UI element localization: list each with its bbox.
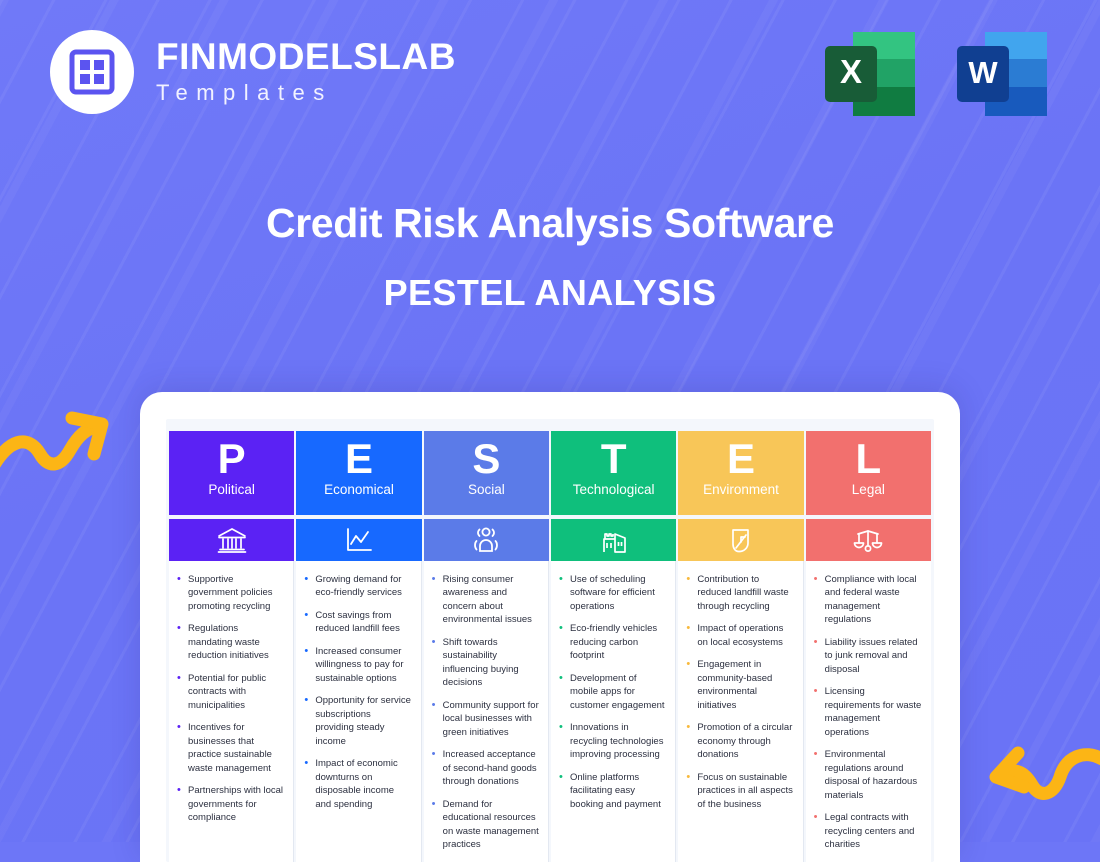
list-item: Impact of economic downturns on disposab… xyxy=(303,757,411,811)
page-header: FINMODELSLAB Templates X W xyxy=(0,0,1100,150)
list-item: Rising consumer awareness and concern ab… xyxy=(431,573,539,627)
list-item: Community support for local businesses w… xyxy=(431,699,539,739)
line-chart-icon xyxy=(296,519,421,561)
bullet-list-social: Rising consumer awareness and concern ab… xyxy=(431,573,539,852)
excel-icon: X xyxy=(820,28,920,120)
bullet-list-legal: Compliance with local and federal waste … xyxy=(813,573,922,852)
content-environment: Contribution to reduced landfill waste t… xyxy=(678,561,803,862)
label-legal: Legal xyxy=(852,483,885,498)
letter-l: L xyxy=(856,437,882,481)
list-item: Partnerships with local governments for … xyxy=(176,784,284,824)
pestel-header-legal[interactable]: L Legal xyxy=(806,431,931,515)
list-item: Online platforms facilitating easy booki… xyxy=(558,771,666,811)
letter-t: T xyxy=(601,437,627,481)
list-item: Legal contracts with recycling centers a… xyxy=(813,811,922,851)
content-social: Rising consumer awareness and concern ab… xyxy=(424,561,549,862)
word-icon: W xyxy=(952,28,1052,120)
list-item: Incentives for businesses that practice … xyxy=(176,721,284,775)
page-subtitle: PESTEL ANALYSIS xyxy=(0,272,1100,314)
list-item: Increased acceptance of second-hand good… xyxy=(431,748,539,788)
list-item: Opportunity for service subscriptions pr… xyxy=(303,694,411,748)
list-item: Focus on sustainable practices in all as… xyxy=(685,771,793,811)
brand-name: FINMODELSLAB xyxy=(156,38,456,77)
page-title: Credit Risk Analysis Software xyxy=(0,200,1100,247)
tablet-screen: P Political E Economical S Social T Tech… xyxy=(166,419,934,862)
list-item: Innovations in recycling technologies im… xyxy=(558,721,666,761)
list-item: Licensing requirements for waste managem… xyxy=(813,685,922,739)
list-item: Contribution to reduced landfill waste t… xyxy=(685,573,793,613)
pestel-header-social[interactable]: S Social xyxy=(424,431,549,515)
label-political: Political xyxy=(208,483,255,498)
list-item: Eco-friendly vehicles reducing carbon fo… xyxy=(558,622,666,662)
list-item: Increased consumer willingness to pay fo… xyxy=(303,645,411,685)
pestel-header-environment[interactable]: E Environment xyxy=(678,431,803,515)
leaf-icon xyxy=(678,519,803,561)
title-block: Credit Risk Analysis Software PESTEL ANA… xyxy=(0,200,1100,314)
list-item: Liability issues related to junk removal… xyxy=(813,636,922,676)
list-item: Use of scheduling software for efficient… xyxy=(558,573,666,613)
content-legal: Compliance with local and federal waste … xyxy=(806,561,931,862)
label-technological: Technological xyxy=(573,483,655,498)
content-technological: Use of scheduling software for efficient… xyxy=(551,561,676,862)
list-item: Regulations mandating waste reduction in… xyxy=(176,622,284,662)
list-item: Supportive government policies promoting… xyxy=(176,573,284,613)
letter-s: S xyxy=(472,437,500,481)
grid-squares-icon xyxy=(50,30,134,114)
list-item: Cost savings from reduced landfill fees xyxy=(303,609,411,636)
label-economical: Economical xyxy=(324,483,394,498)
bullet-list-economical: Growing demand for eco-friendly services… xyxy=(303,573,411,811)
list-item: Growing demand for eco-friendly services xyxy=(303,573,411,600)
list-item: Development of mobile apps for customer … xyxy=(558,672,666,712)
label-environment: Environment xyxy=(703,483,779,498)
list-item: Shift towards sustainability influencing… xyxy=(431,636,539,690)
list-item: Promotion of a circular economy through … xyxy=(685,721,793,761)
pestel-header-row: P Political E Economical S Social T Tech… xyxy=(169,431,931,515)
office-format-icons: X W xyxy=(820,28,1052,120)
pestel-header-economical[interactable]: E Economical xyxy=(296,431,421,515)
list-item: Environmental regulations around disposa… xyxy=(813,748,922,802)
brand-subtitle: Templates xyxy=(156,80,456,106)
list-item: Demand for educational resources on wast… xyxy=(431,798,539,852)
factory-building-icon xyxy=(551,519,676,561)
letter-e1: E xyxy=(345,437,373,481)
bullet-list-political: Supportive government policies promoting… xyxy=(176,573,284,825)
pestel-header-political[interactable]: P Political xyxy=(169,431,294,515)
squiggle-arrow-down-left-icon xyxy=(974,739,1100,836)
letter-e2: E xyxy=(727,437,755,481)
bullet-list-environment: Contribution to reduced landfill waste t… xyxy=(685,573,793,811)
brand-logo: FINMODELSLAB Templates xyxy=(50,30,456,114)
svg-text:X: X xyxy=(840,53,862,90)
content-economical: Growing demand for eco-friendly services… xyxy=(296,561,421,862)
list-item: Engagement in community-based environmen… xyxy=(685,658,793,712)
bullet-list-technological: Use of scheduling software for efficient… xyxy=(558,573,666,811)
squiggle-arrow-up-right-icon xyxy=(0,396,118,493)
people-group-icon xyxy=(424,519,549,561)
tablet-device-frame: P Political E Economical S Social T Tech… xyxy=(140,392,960,862)
list-item: Potential for public contracts with muni… xyxy=(176,672,284,712)
letter-p: P xyxy=(218,437,246,481)
label-social: Social xyxy=(468,483,505,498)
svg-text:W: W xyxy=(968,55,998,90)
scales-balance-icon xyxy=(806,519,931,561)
pestel-content-row: Supportive government policies promoting… xyxy=(169,561,931,862)
pestel-header-technological[interactable]: T Technological xyxy=(551,431,676,515)
government-bank-icon xyxy=(169,519,294,561)
list-item: Compliance with local and federal waste … xyxy=(813,573,922,627)
content-political: Supportive government policies promoting… xyxy=(169,561,294,862)
pestel-icon-row xyxy=(169,515,931,561)
list-item: Impact of operations on local ecosystems xyxy=(685,622,793,649)
